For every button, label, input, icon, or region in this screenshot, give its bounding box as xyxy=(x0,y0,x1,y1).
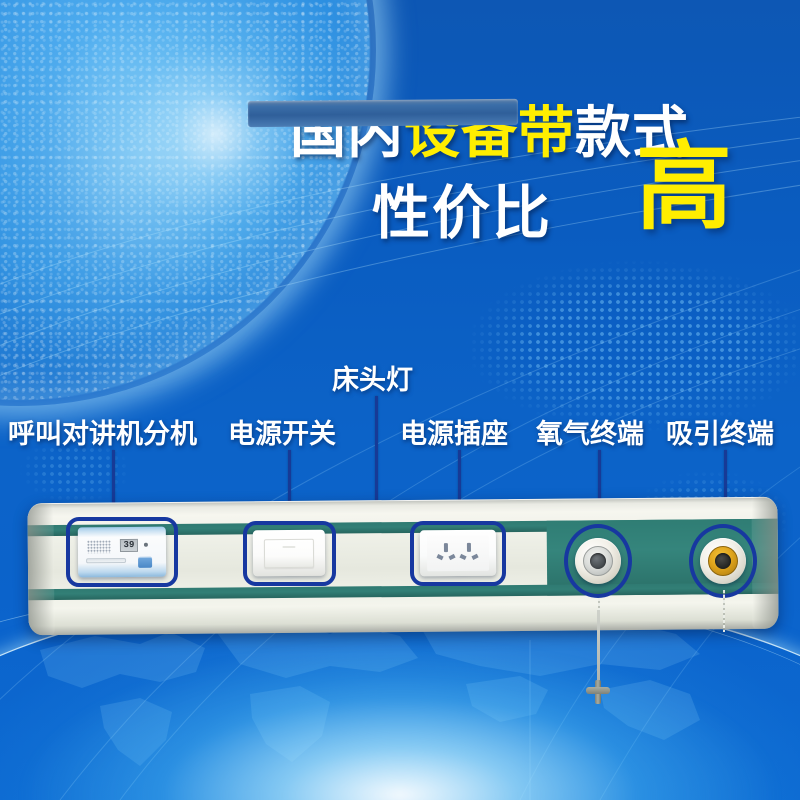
callout-oxygen-terminal: 氧气终端 xyxy=(536,412,644,451)
highlight-box-nurse-call-intercom xyxy=(66,517,178,587)
callout-suction-terminal: 吸引终端 xyxy=(666,412,774,451)
nurse-call-pull-cord[interactable] xyxy=(597,610,600,686)
callout-power-socket: 电源插座 xyxy=(400,412,508,451)
headline-emphasis-word: 高 xyxy=(636,140,732,236)
bed-lamp-diffuser-strip xyxy=(248,99,518,127)
highlight-box-suction-terminal xyxy=(689,524,757,598)
callout-label-power-switch: 电源开关 xyxy=(228,412,336,451)
promo-banner: 国内设备带款式 性价比 高 呼叫对讲机分机 电源开关 床头灯 电源插座 氧气终端… xyxy=(0,0,800,800)
highlight-box-oxygen-terminal xyxy=(564,524,632,598)
highlight-box-power-switch xyxy=(243,521,336,586)
callout-label-oxygen-terminal: 氧气终端 xyxy=(536,412,644,451)
pull-cord-handle[interactable] xyxy=(586,680,610,704)
callout-label-nurse-call-intercom: 呼叫对讲机分机 xyxy=(8,412,197,451)
pull-cord-handle-horizontal xyxy=(586,687,610,694)
panel-endcap-left xyxy=(27,503,54,635)
callout-label-suction-terminal: 吸引终端 xyxy=(666,412,774,451)
callout-nurse-call-intercom: 呼叫对讲机分机 xyxy=(8,412,197,451)
callout-label-power-socket: 电源插座 xyxy=(400,412,508,451)
suction-terminal-cord xyxy=(723,590,725,632)
callout-bed-lamp: 床头灯 xyxy=(332,358,413,397)
headline-line-2: 性价比 xyxy=(372,166,552,250)
callout-label-bed-lamp: 床头灯 xyxy=(332,358,413,397)
highlight-box-power-socket xyxy=(410,521,506,586)
callout-power-switch: 电源开关 xyxy=(228,412,336,451)
